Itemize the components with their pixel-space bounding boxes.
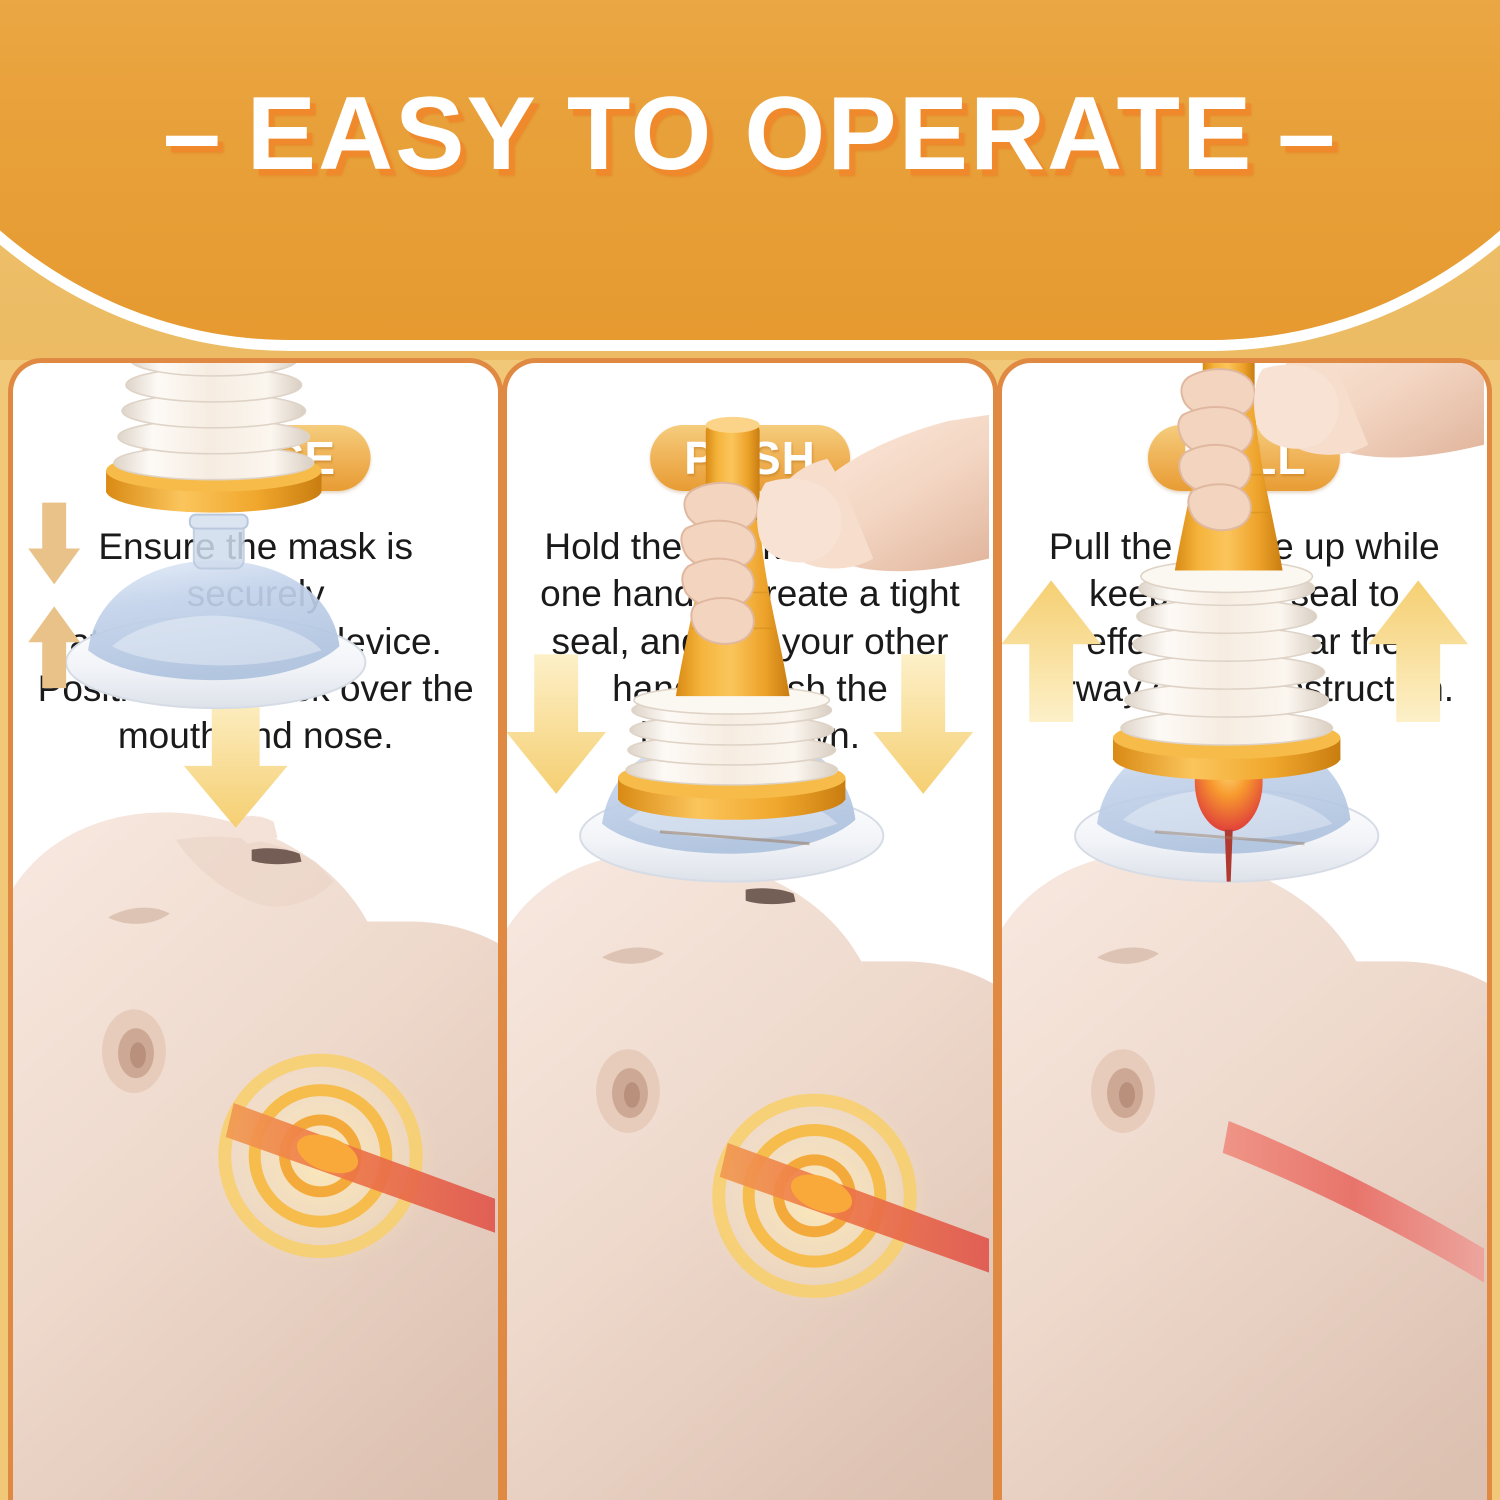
- title-main-text: EASY TO OPERATE: [247, 76, 1254, 192]
- step-line: effectively clear the: [1020, 618, 1469, 665]
- page-title: –EASY TO OPERATE–: [0, 74, 1500, 194]
- step-line: mouth and nose.: [31, 712, 480, 759]
- step-line: Ensure the mask is securely: [31, 523, 480, 618]
- step-description-push: Hold the mask firmly with one hand to cr…: [507, 523, 992, 760]
- mannequin-head: [1002, 852, 1487, 1500]
- step-pill-pull: PULL: [1148, 425, 1340, 491]
- title-dash-left: –: [163, 75, 223, 194]
- step-pill-label: PUSH: [684, 431, 816, 485]
- airway-clear-indicator: [1222, 1121, 1483, 1283]
- steps-row: PLACE Ensure the mask is securely attach…: [0, 358, 1500, 1500]
- step-line: hand to push the: [525, 665, 974, 712]
- step-pill-push: PUSH: [650, 425, 850, 491]
- step-line: attached to the device.: [31, 618, 480, 665]
- face-mask: [1075, 730, 1378, 882]
- page-title-text: –EASY TO OPERATE–: [139, 75, 1361, 194]
- step-pill-place: PLACE: [141, 425, 370, 491]
- step-description-pull: Pull the handle up while keeping the sea…: [1002, 523, 1487, 712]
- step-card-pull[interactable]: PULL Pull the handle up while keeping th…: [997, 358, 1492, 1500]
- step-description-place: Ensure the mask is securely attached to …: [13, 523, 498, 760]
- step-pill-label: PLACE: [175, 431, 336, 485]
- step-line: Position the mask over the: [31, 665, 480, 712]
- step-line: seal, and use your other: [525, 618, 974, 665]
- airway-obstruction-indicator: [211, 1051, 495, 1270]
- step-line: airway of any obstruction.: [1020, 665, 1469, 712]
- mannequin-head: [13, 812, 498, 1500]
- step-line: handle down.: [525, 712, 974, 759]
- step-line: Hold the mask firmly with: [525, 523, 974, 570]
- airway-obstruction-indicator: [705, 1091, 989, 1310]
- mannequin-head: [507, 852, 992, 1500]
- step-line: Pull the handle up while: [1020, 523, 1469, 570]
- step-card-push[interactable]: PUSH Hold the mask firmly with one hand …: [502, 358, 997, 1500]
- step-card-place[interactable]: PLACE Ensure the mask is securely attach…: [8, 358, 503, 1500]
- title-dash-right: –: [1277, 75, 1337, 194]
- extracted-obstruction: [1194, 732, 1262, 882]
- header-banner: –EASY TO OPERATE–: [0, 0, 1500, 360]
- step-line: one hand to create a tight: [525, 570, 974, 617]
- step-pill-label: PULL: [1182, 431, 1306, 485]
- step-line: keeping the seal to: [1020, 570, 1469, 617]
